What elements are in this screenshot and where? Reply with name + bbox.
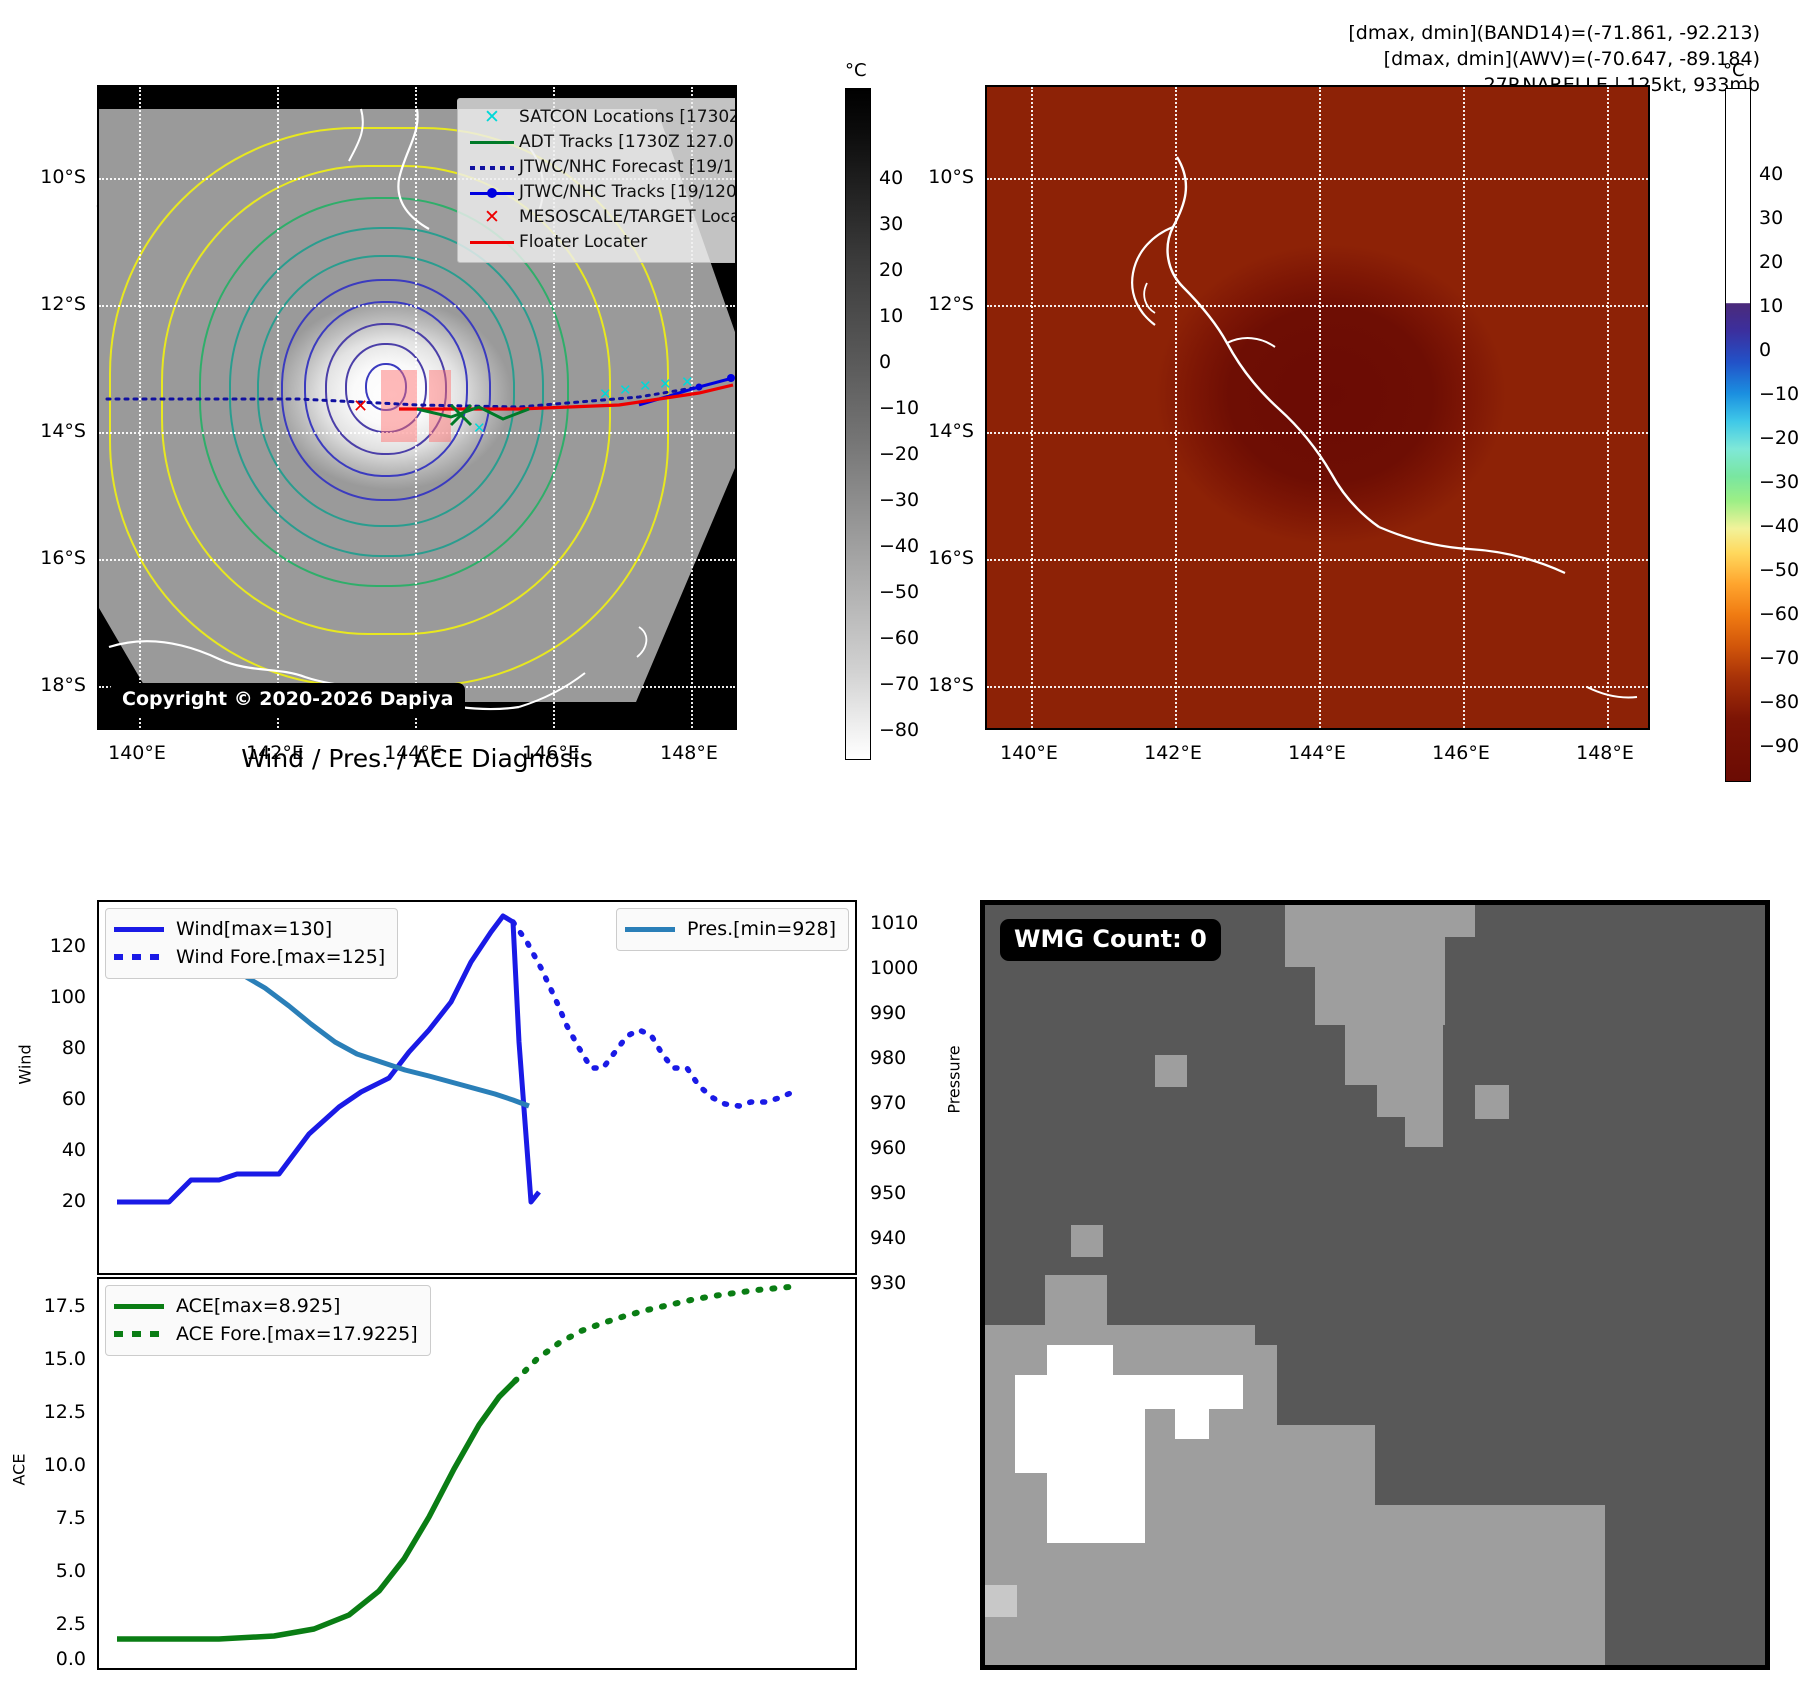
wmg-cell-gray bbox=[1071, 1225, 1103, 1257]
color-cbar-tick--60: −60 bbox=[1759, 603, 1799, 625]
gray-cbar-tick--80: −80 bbox=[879, 719, 919, 741]
ace-tick-10-0: 10.0 bbox=[18, 1454, 86, 1476]
wmg-cell-light bbox=[1405, 1085, 1443, 1147]
ace-chart[interactable]: ACE[max=8.925] ACE Fore.[max=17.9225] bbox=[97, 1277, 857, 1670]
ir-lat-tick-16s: 16°S bbox=[20, 547, 86, 569]
wind-tick-60: 60 bbox=[28, 1088, 86, 1110]
wmg-count-badge: WMG Count: 0 bbox=[1000, 919, 1221, 961]
pres-tick-1010: 1010 bbox=[870, 912, 918, 934]
awv-lat-tick-14s: 14°S bbox=[908, 420, 974, 442]
awv-lon-tick-146e: 146°E bbox=[1411, 742, 1511, 764]
ir-lat-tick-18s: 18°S bbox=[20, 674, 86, 696]
gray-cbar-tick--60: −60 bbox=[879, 627, 919, 649]
gray-cbar-tick--10: −10 bbox=[879, 397, 919, 419]
awv-grid-lon-140e bbox=[1031, 87, 1033, 728]
awv-lat-tick-16s: 16°S bbox=[908, 547, 974, 569]
legend-item-floater: Floater Locater bbox=[465, 230, 737, 255]
color-colorbar-gradient bbox=[1725, 88, 1751, 782]
wind-tick-40: 40 bbox=[28, 1139, 86, 1161]
awv-map[interactable] bbox=[985, 85, 1650, 730]
dotted-line-icon bbox=[114, 1331, 176, 1337]
awv-lat-tick-12s: 12°S bbox=[908, 293, 974, 315]
ace-tick-2-5: 2.5 bbox=[18, 1613, 86, 1635]
pres-tick-970: 970 bbox=[870, 1092, 906, 1114]
x-marker-icon: ✕ bbox=[465, 108, 519, 127]
pressure-axis-label: Pressure bbox=[945, 1045, 964, 1113]
wind-pressure-chart[interactable]: Wind[max=130] Wind Fore.[max=125] Pres.[… bbox=[97, 900, 857, 1275]
svg-text:✕: ✕ bbox=[619, 381, 632, 399]
pres-tick-940: 940 bbox=[870, 1227, 906, 1249]
dotted-line-icon bbox=[465, 166, 519, 170]
awv-grid-lon-142e bbox=[1175, 87, 1177, 728]
wmg-cell-white bbox=[1175, 1405, 1209, 1439]
wind-tick-120: 120 bbox=[28, 935, 86, 957]
gray-cbar-tick-30: 30 bbox=[879, 213, 903, 235]
gray-cbar-tick--20: −20 bbox=[879, 443, 919, 465]
awv-lon-tick-142e: 142°E bbox=[1123, 742, 1223, 764]
dotted-line-icon bbox=[114, 954, 176, 960]
svg-text:✕: ✕ bbox=[599, 385, 612, 403]
ace-chart-legend: ACE[max=8.925] ACE Fore.[max=17.9225] bbox=[105, 1285, 431, 1356]
color-cbar-tick--80: −80 bbox=[1759, 691, 1799, 713]
ir-lat-tick-14s: 14°S bbox=[20, 420, 86, 442]
legend-item-adt: ADT Tracks [1730Z 127.0 931.1] bbox=[465, 130, 737, 155]
awv-lat-tick-10s: 10°S bbox=[908, 166, 974, 188]
svg-text:✕: ✕ bbox=[659, 375, 672, 393]
awv-lon-tick-148e: 148°E bbox=[1555, 742, 1655, 764]
ace-tick-5-0: 5.0 bbox=[18, 1560, 86, 1582]
wind-pres-ace-title: Wind / Pres. / ACE Diagnosis bbox=[97, 744, 737, 773]
gray-cbar-tick--50: −50 bbox=[879, 581, 919, 603]
awv-grid-lon-148e bbox=[1607, 87, 1609, 728]
wmg-cell-white bbox=[1047, 1345, 1113, 1407]
line-with-dot-icon bbox=[465, 188, 519, 198]
ir-map-legend: ✕ SATCON Locations [1730Z 131 929] ADT T… bbox=[457, 98, 737, 263]
pres-tick-930: 930 bbox=[870, 1272, 906, 1294]
legend-item-ace: ACE[max=8.925] bbox=[114, 1292, 418, 1320]
wmg-cell-light bbox=[1475, 1085, 1509, 1119]
awv-lon-tick-144e: 144°E bbox=[1267, 742, 1367, 764]
dmax-dmin-awv: [dmax, dmin](AWV)=(-70.647, -89.184) bbox=[1348, 46, 1760, 72]
legend-item-satcon: ✕ SATCON Locations [1730Z 131 929] bbox=[465, 105, 737, 130]
line-icon bbox=[114, 1304, 176, 1309]
color-cbar-tick--70: −70 bbox=[1759, 647, 1799, 669]
color-cbar-tick--90: −90 bbox=[1759, 735, 1799, 757]
wmg-cell-light bbox=[1285, 905, 1475, 937]
ir-lat-tick-12s: 12°S bbox=[20, 293, 86, 315]
pres-tick-950: 950 bbox=[870, 1182, 906, 1204]
ir-band14-map[interactable]: ✕ ✕ ✕ ✕ ✕ ✕ ✕ ✕ SATCON Locations [1730Z … bbox=[97, 85, 737, 730]
pres-tick-960: 960 bbox=[870, 1137, 906, 1159]
color-cbar-tick--30: −30 bbox=[1759, 471, 1799, 493]
wind-chart-legend: Wind[max=130] Wind Fore.[max=125] bbox=[105, 908, 398, 979]
ace-tick-0-0: 0.0 bbox=[18, 1648, 86, 1670]
legend-item-jtwc-tracks: JTWC/NHC Tracks [19/1200Z] bbox=[465, 180, 737, 205]
line-icon bbox=[625, 927, 687, 932]
color-cbar-tick--10: −10 bbox=[1759, 383, 1799, 405]
svg-text:✕: ✕ bbox=[681, 373, 694, 391]
wmg-cell-white bbox=[1145, 1375, 1243, 1409]
ace-tick-7-5: 7.5 bbox=[18, 1507, 86, 1529]
pressure-chart-legend: Pres.[min=928] bbox=[616, 908, 849, 951]
awv-lon-tick-140e: 140°E bbox=[979, 742, 1079, 764]
ir-lat-tick-10s: 10°S bbox=[20, 166, 86, 188]
legend-item-pressure: Pres.[min=928] bbox=[625, 915, 836, 943]
color-cbar-tick--40: −40 bbox=[1759, 515, 1799, 537]
wmg-mask-panel[interactable]: WMG Count: 0 bbox=[980, 900, 1770, 1670]
awv-grid-lat-14s bbox=[987, 432, 1648, 434]
color-cbar-tick-30: 30 bbox=[1759, 207, 1783, 229]
color-cbar-tick-20: 20 bbox=[1759, 251, 1783, 273]
gray-cbar-tick-10: 10 bbox=[879, 305, 903, 327]
wmg-cell-white bbox=[1081, 1505, 1115, 1539]
copyright-badge: Copyright © 2020-2026 Dapiya bbox=[110, 683, 465, 716]
dmax-dmin-band14: [dmax, dmin](BAND14)=(-71.861, -92.213) bbox=[1348, 20, 1760, 46]
wmg-mask-canvas bbox=[985, 905, 1765, 1665]
color-cbar-tick--20: −20 bbox=[1759, 427, 1799, 449]
gray-colorbar-unit: °C bbox=[845, 60, 867, 81]
legend-item-mesoscale: ✕ MESOSCALE/TARGET Location bbox=[465, 205, 737, 230]
line-icon bbox=[465, 141, 519, 144]
svg-text:✕: ✕ bbox=[639, 377, 652, 395]
wind-tick-100: 100 bbox=[28, 986, 86, 1008]
color-cbar-tick-10: 10 bbox=[1759, 295, 1783, 317]
ace-tick-15-0: 15.0 bbox=[18, 1348, 86, 1370]
gray-cbar-tick-40: 40 bbox=[879, 167, 903, 189]
ace-tick-17-5: 17.5 bbox=[18, 1295, 86, 1317]
pres-tick-1000: 1000 bbox=[870, 957, 918, 979]
gray-cbar-tick-20: 20 bbox=[879, 259, 903, 281]
pres-tick-980: 980 bbox=[870, 1047, 906, 1069]
legend-item-ace-forecast: ACE Fore.[max=17.9225] bbox=[114, 1320, 418, 1348]
wmg-cell-gray bbox=[985, 1585, 1017, 1617]
legend-item-wind: Wind[max=130] bbox=[114, 915, 385, 943]
line-icon bbox=[114, 927, 176, 932]
color-cbar-tick--50: −50 bbox=[1759, 559, 1799, 581]
legend-item-jtwc-forecast: JTWC/NHC Forecast [19/1200Z] bbox=[465, 155, 737, 180]
awv-grid-lon-146e bbox=[1463, 87, 1465, 728]
svg-text:✕: ✕ bbox=[473, 419, 486, 437]
x-marker-icon: ✕ bbox=[465, 208, 519, 227]
svg-text:✕: ✕ bbox=[353, 396, 368, 417]
awv-grid-lat-16s bbox=[987, 559, 1648, 561]
wmg-cell-light bbox=[1155, 1055, 1187, 1087]
awv-lat-tick-18s: 18°S bbox=[908, 674, 974, 696]
awv-grid-lat-18s bbox=[987, 686, 1648, 688]
dashboard-root: HIMAWARI-9 BAND14-DIAS TARGET AREA Time:… bbox=[0, 0, 1801, 1690]
gray-cbar-tick-0: 0 bbox=[879, 351, 891, 373]
color-cbar-tick-40: 40 bbox=[1759, 163, 1783, 185]
wind-tick-80: 80 bbox=[28, 1037, 86, 1059]
awv-grid-lon-144e bbox=[1319, 87, 1321, 728]
awv-grid-lat-10s bbox=[987, 178, 1648, 180]
ace-tick-12-5: 12.5 bbox=[18, 1401, 86, 1423]
gray-cbar-tick--30: −30 bbox=[879, 489, 919, 511]
awv-grid-lat-12s bbox=[987, 305, 1648, 307]
color-cbar-tick-0: 0 bbox=[1759, 339, 1771, 361]
legend-item-wind-forecast: Wind Fore.[max=125] bbox=[114, 943, 385, 971]
pres-tick-990: 990 bbox=[870, 1002, 906, 1024]
line-icon bbox=[465, 241, 519, 244]
wind-tick-20: 20 bbox=[28, 1190, 86, 1212]
gray-colorbar-gradient bbox=[845, 88, 871, 760]
color-colorbar-unit: °C bbox=[1723, 60, 1745, 81]
